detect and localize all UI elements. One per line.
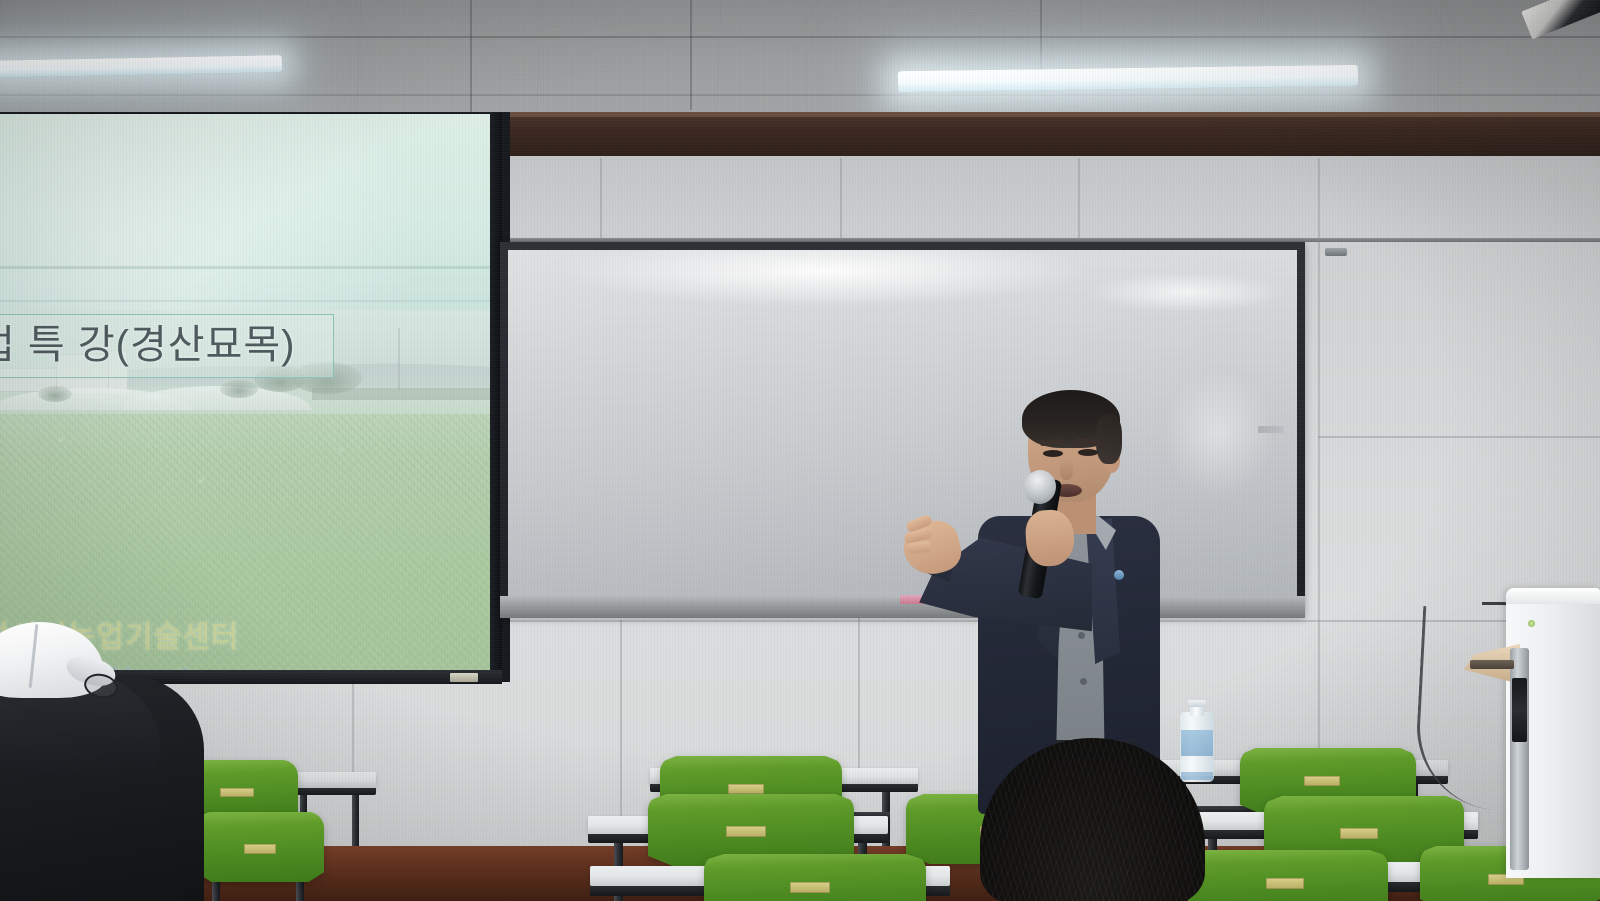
chair-label-plate (1340, 828, 1378, 839)
slide-divider (0, 266, 490, 269)
wall-seam (1318, 158, 1320, 240)
wood-beam (498, 112, 1600, 156)
presenter-nose (1060, 458, 1073, 480)
shirt-button (1078, 632, 1085, 639)
chair-label-plate (728, 784, 764, 794)
chair-label-plate (726, 826, 766, 837)
status-indicator-icon (1528, 620, 1535, 627)
chair-label-plate (1266, 878, 1304, 889)
wood-beam-highlight (498, 112, 1600, 117)
chair-label-plate (790, 882, 830, 893)
chair-front-a[interactable] (704, 854, 926, 901)
air-purifier-vent (1512, 678, 1527, 742)
wall-seam (1318, 436, 1600, 438)
screen-pull-tab[interactable] (450, 673, 478, 682)
presenter-hair-side (1096, 414, 1122, 464)
ceiling-seam (1040, 0, 1042, 72)
audience-hair-texture (980, 738, 1205, 901)
air-purifier-top (1506, 588, 1600, 604)
presenter-eye-left (1043, 450, 1063, 457)
audience-front-center (980, 738, 1220, 901)
wall-seam (840, 158, 842, 240)
ceiling-seam (0, 94, 1600, 96)
ceiling-seam (0, 36, 1600, 38)
ceiling-seam (690, 0, 692, 110)
chair-backrest (704, 854, 926, 901)
wall-sensor-icon (1325, 248, 1347, 256)
upper-wall-panels (498, 156, 1600, 242)
wall-seam (1078, 158, 1080, 240)
slide-title: 업 특 강(경산묘목) (0, 320, 330, 370)
presenter-eye-right (1078, 449, 1098, 456)
whiteboard-label (1258, 426, 1284, 433)
ceiling-seam (470, 0, 472, 128)
wall-seam (600, 158, 602, 240)
projection-screen: 업 특 강(경산묘목) 경산시농업기술센터 박 철 호 (0, 112, 510, 682)
wall-bracket-arm (1470, 660, 1514, 669)
chair-label-plate (1304, 776, 1340, 786)
screen-surface: 업 특 강(경산묘목) 경산시농업기술센터 박 철 호 (0, 114, 490, 670)
table-leg (352, 795, 359, 853)
audience-front-left (0, 610, 240, 901)
shirt-button (1080, 678, 1087, 685)
lecture-room-photo: 업 특 강(경산묘목) 경산시농업기술센터 박 철 호 (0, 0, 1600, 901)
lapel-pin-icon (1114, 570, 1124, 580)
slide-divider (0, 300, 490, 302)
wall-seam (858, 618, 860, 778)
chair-label-plate (244, 844, 276, 854)
